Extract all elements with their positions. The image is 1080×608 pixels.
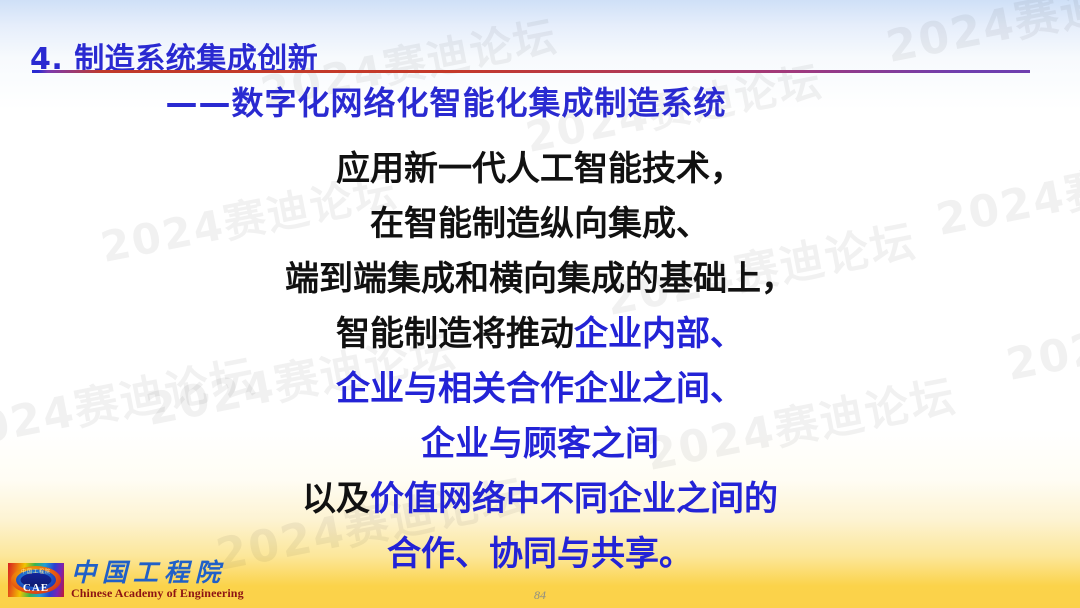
- body-line: 以及价值网络中不同企业之间的: [0, 472, 1080, 527]
- body-line: 端到端集成和横向集成的基础上，: [0, 252, 1080, 307]
- body-text-segment: 智能制造将推动: [336, 314, 574, 354]
- body-text-segment: 端到端集成和横向集成的基础上，: [285, 259, 795, 299]
- slide-body: 应用新一代人工智能技术，在智能制造纵向集成、端到端集成和横向集成的基础上，智能制…: [0, 142, 1080, 582]
- cae-emblem-sublabel: 中国工程院: [8, 570, 64, 575]
- title-underline-rule: [32, 70, 1030, 73]
- body-line: 企业与相关合作企业之间、: [0, 362, 1080, 417]
- body-text-segment: 价值网络中不同企业之间的: [370, 479, 778, 519]
- body-text-segment: 应用新一代人工智能技术，: [336, 149, 744, 189]
- body-line: 智能制造将推动企业内部、: [0, 307, 1080, 362]
- body-text-segment: 合作、协同与共享。: [387, 534, 693, 574]
- page-number: 84: [0, 588, 1080, 603]
- page-subtitle: ——数字化网络化智能化集成制造系统: [0, 78, 1080, 124]
- body-text-segment: 企业内部、: [574, 314, 744, 354]
- body-text-segment: 在智能制造纵向集成、: [370, 204, 710, 244]
- watermark-text: 2024赛迪论坛: [880, 0, 1080, 75]
- body-line: 应用新一代人工智能技术，: [0, 142, 1080, 197]
- body-text-segment: 企业与相关合作企业之间、: [336, 369, 744, 409]
- body-text-segment: 以及: [302, 479, 370, 519]
- body-line: 企业与顾客之间: [0, 417, 1080, 472]
- slide-canvas: 2024赛迪论坛2024赛迪论坛2024赛迪论坛2024赛迪论坛2024赛迪论坛…: [0, 0, 1080, 608]
- body-line: 在智能制造纵向集成、: [0, 197, 1080, 252]
- cae-logo-chinese: 中国工程院: [71, 560, 244, 586]
- body-text-segment: 企业与顾客之间: [421, 424, 659, 464]
